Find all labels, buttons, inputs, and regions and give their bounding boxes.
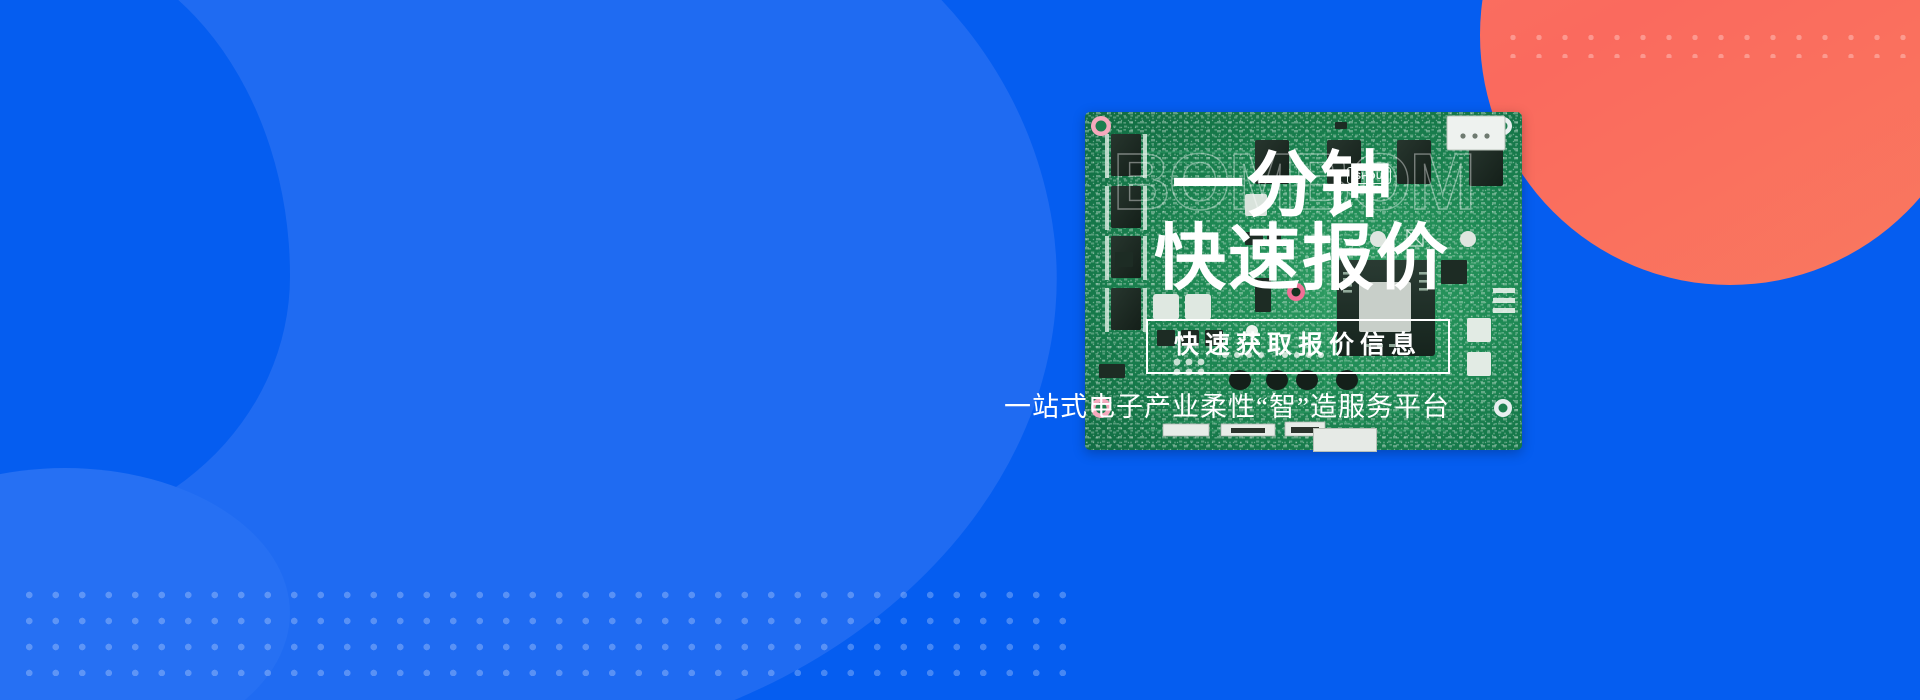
banner-copy-block: BOMBOM 一分钟 快速报价 快速获取报价信息 一站式电子产业柔性“智”造服务…: [830, 150, 1450, 425]
headline-line-2: 快速报价: [830, 223, 1450, 296]
pcb-bottom-connector: [1313, 428, 1377, 452]
dot-grid-top-right-icon: [1500, 28, 1920, 58]
dot-grid-bottom-left-icon: [16, 582, 1076, 676]
banner-subtitle: 一站式电子产业柔性“智”造服务平台: [830, 390, 1450, 425]
promo-banner: SHOU BOMBOM 一分钟 快速报价 快速获取报价信息 一站式电子产业柔性“…: [0, 0, 1920, 700]
page-title: 一分钟 快速报价: [830, 150, 1450, 297]
headline-line-1: 一分钟: [830, 150, 1450, 223]
get-quote-button[interactable]: 快速获取报价信息: [1146, 319, 1450, 374]
